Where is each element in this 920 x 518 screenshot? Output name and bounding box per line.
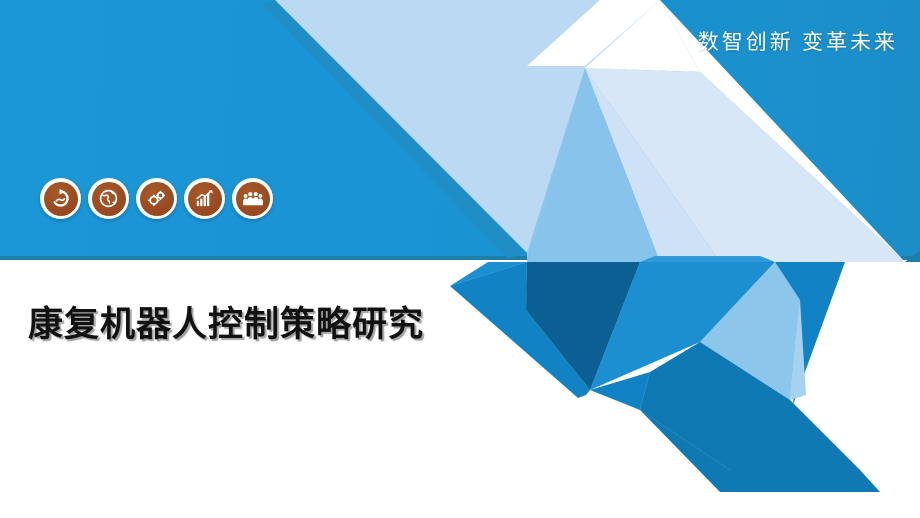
icon-badge-refresh-arrow[interactable]	[40, 178, 81, 219]
bar-chart-growth-icon	[188, 182, 222, 216]
icon-badge-bar-chart-growth[interactable]	[184, 178, 225, 219]
presentation-title-slide: 数智创新 变革未来	[0, 0, 920, 518]
poly-band-dark-right	[905, 250, 920, 262]
poly-lower-center-mid	[640, 256, 775, 262]
people-group-icon	[236, 182, 270, 216]
page-title: 康复机器人控制策略研究	[28, 296, 424, 347]
icon-badge-gears[interactable]	[136, 178, 177, 219]
tagline-text: 数智创新 变革未来	[698, 26, 898, 56]
refresh-arrow-icon	[44, 182, 78, 216]
gears-icon	[140, 182, 174, 216]
icon-badge-globe[interactable]	[88, 178, 129, 219]
polygon-decoration-artwork	[0, 0, 920, 518]
icon-badge-row	[40, 178, 273, 219]
globe-icon	[92, 182, 126, 216]
icon-badge-people-group[interactable]	[232, 178, 273, 219]
